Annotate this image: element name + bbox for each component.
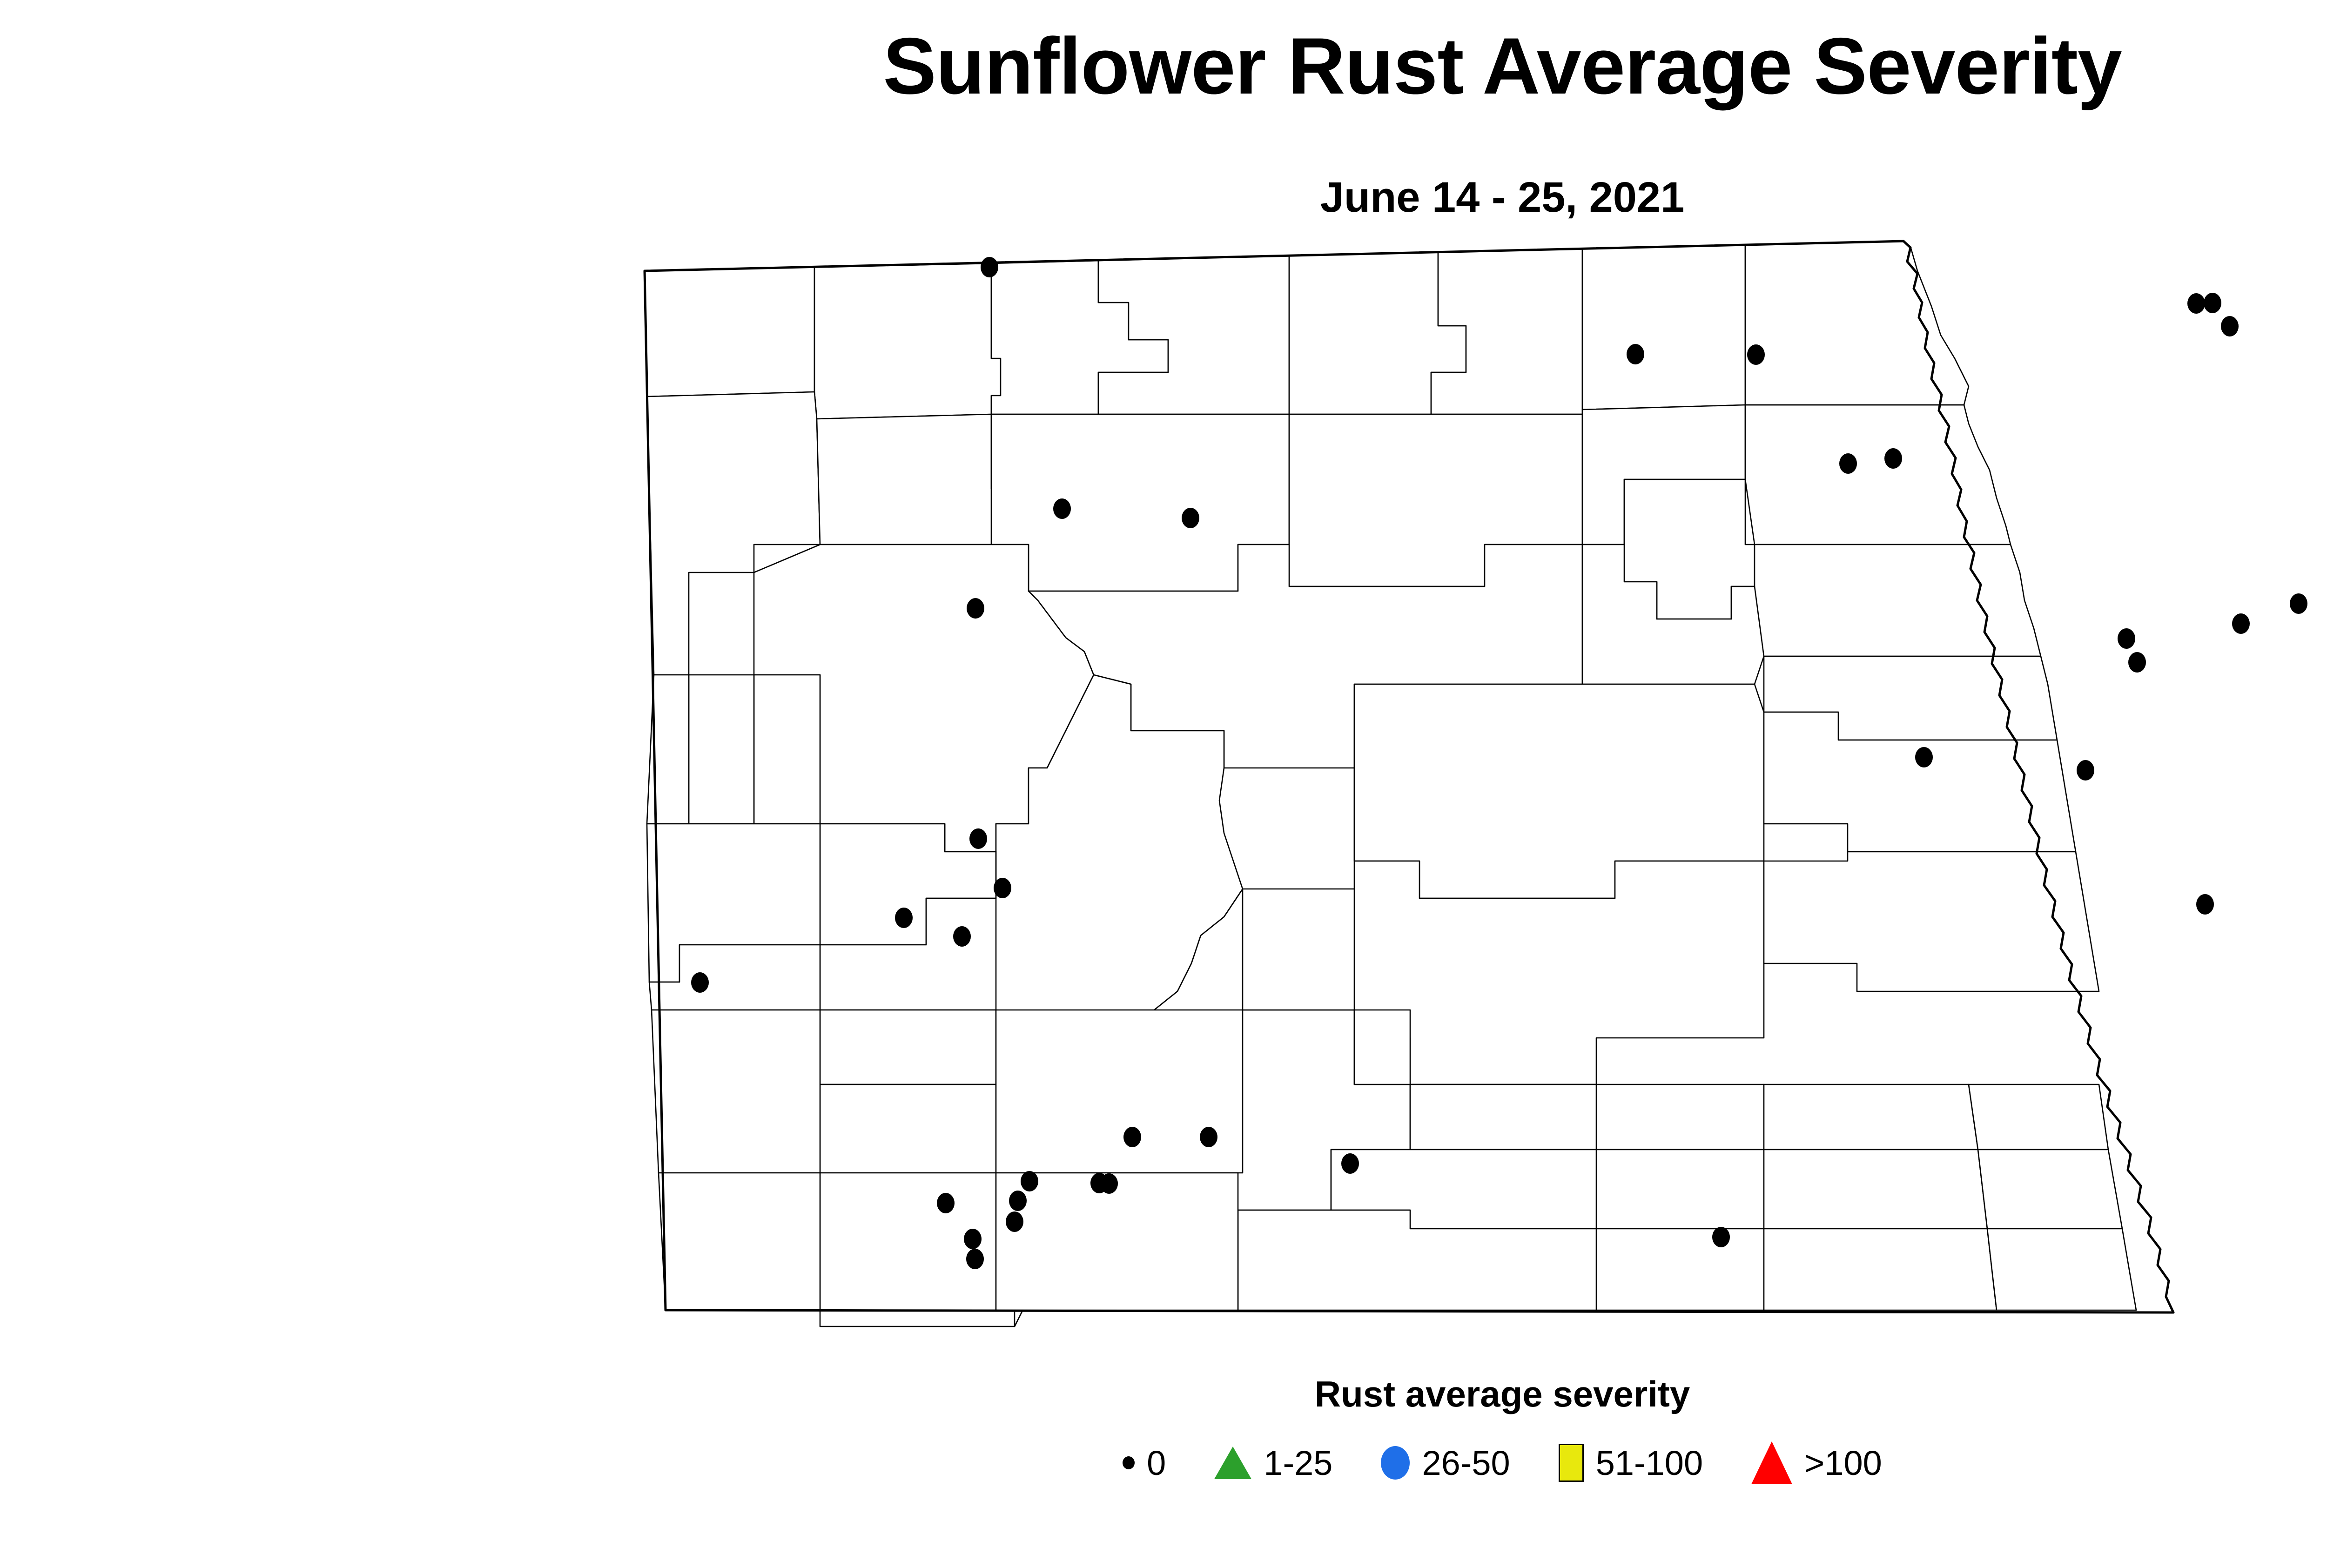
sample-point [2196,894,2214,915]
sample-point [1182,508,1199,528]
sample-point [1747,344,1765,365]
page-subtitle: June 14 - 25, 2021 [0,173,2327,222]
sample-point [2232,613,2250,634]
red-triangle-icon [1751,1441,1792,1484]
legend-items: 0 1-25 26-50 51-100 >100 [0,1441,2327,1484]
sample-point [1712,1227,1730,1247]
legend-label-gt100: >100 [1804,1443,1882,1483]
sample-point [1053,498,1071,519]
sample-point [937,1193,955,1213]
sample-point [1100,1173,1118,1194]
sample-point [994,878,1011,898]
sample-point [691,972,709,993]
page-title: Sunflower Rust Average Severity [0,24,2327,108]
green-triangle-icon [1214,1447,1251,1479]
map-svg [619,219,2327,1359]
sample-point [1915,747,1933,767]
sample-point [1839,453,1857,474]
sample-point [1200,1127,1217,1147]
blue-circle-icon [1381,1446,1410,1480]
sample-point [2077,760,2094,781]
legend-title: Rust average severity [0,1373,2327,1415]
map-legend: Rust average severity 0 1-25 26-50 51-10… [0,1373,2327,1484]
sample-point [966,1249,984,1269]
sample-point [1884,448,1902,469]
legend-label-51-100: 51-100 [1596,1443,1703,1483]
sample-point [2221,316,2239,336]
sample-point [981,257,998,277]
sample-point [964,1229,982,1249]
sample-point [1123,1127,1141,1147]
black-dot-icon [1123,1456,1135,1469]
legend-label-0: 0 [1147,1443,1166,1483]
sample-point [1009,1191,1027,1211]
sample-point [895,908,913,928]
legend-item-26-50: 26-50 [1381,1443,1510,1483]
sample-point [2290,593,2307,614]
sample-point [953,926,971,947]
sample-point [2187,293,2205,314]
sample-point [1341,1153,1359,1174]
yellow-square-icon [1559,1444,1584,1482]
legend-item-51-100: 51-100 [1559,1443,1703,1483]
legend-label-1-25: 1-25 [1264,1443,1332,1483]
north-dakota-county-map [619,219,2327,1359]
sample-point [967,598,984,619]
county-boundaries [645,241,2136,1326]
legend-item-1-25: 1-25 [1214,1443,1332,1483]
legend-item-gt100: >100 [1751,1441,1882,1484]
sample-point [1006,1211,1023,1232]
sample-point [1021,1171,1038,1191]
sample-point [2204,293,2221,313]
sample-point [1627,344,1644,364]
sample-point [2128,652,2146,673]
legend-item-0: 0 [1123,1443,1166,1483]
sample-point [2118,628,2135,649]
sample-point [969,828,987,849]
map-page: Sunflower Rust Average Severity June 14 … [0,0,2327,1568]
legend-label-26-50: 26-50 [1422,1443,1510,1483]
